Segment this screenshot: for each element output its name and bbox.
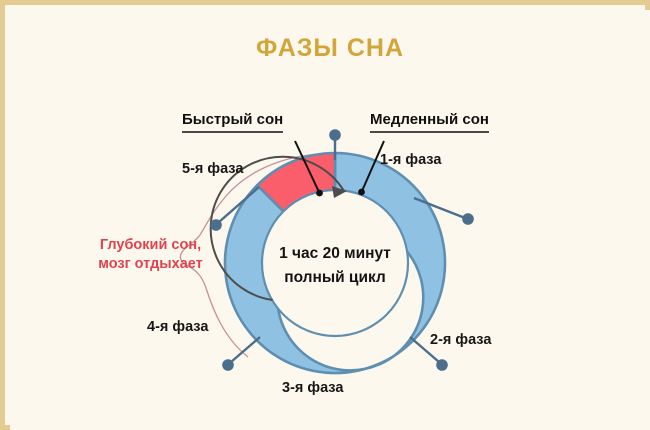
label-phase-5: 5-я фаза (182, 161, 243, 177)
pin-head-bottom-left (223, 360, 232, 369)
label-phase-4: 4-я фаза (147, 319, 208, 335)
deep-sleep-line-2: мозг отдыхает (83, 255, 218, 274)
leader-dot-nrem (358, 189, 365, 196)
deep-sleep-line-1: Глубокий сон, (83, 236, 218, 255)
cycle-duration-line-2: полный цикл (265, 266, 405, 290)
header-slow-sleep: Медленный сон (370, 111, 489, 133)
label-phase-1: 1-я фаза (380, 152, 441, 168)
header-rem-sleep: Быстрый сон (182, 111, 283, 133)
pin-stalk-bottom-left (231, 337, 260, 362)
label-phase-2: 2-я фаза (430, 332, 491, 348)
cycle-duration-label: 1 час 20 минут полный цикл (265, 242, 405, 290)
leader-dot-rem (316, 190, 323, 197)
cycle-duration-line-1: 1 час 20 минут (265, 242, 405, 266)
label-phase-3: 3-я фаза (282, 380, 343, 396)
deep-sleep-callout: Глубокий сон, мозг отдыхает (83, 236, 218, 274)
pin-head-top (330, 130, 339, 139)
pin-head-bottom-right (437, 360, 446, 369)
pin-head-right (463, 214, 472, 223)
pin-head-left (211, 220, 220, 229)
sleep-phase-donut-chart (10, 10, 650, 430)
poster-frame: ФАЗЫ СНА (0, 0, 650, 430)
poster-canvas: ФАЗЫ СНА (10, 10, 650, 430)
